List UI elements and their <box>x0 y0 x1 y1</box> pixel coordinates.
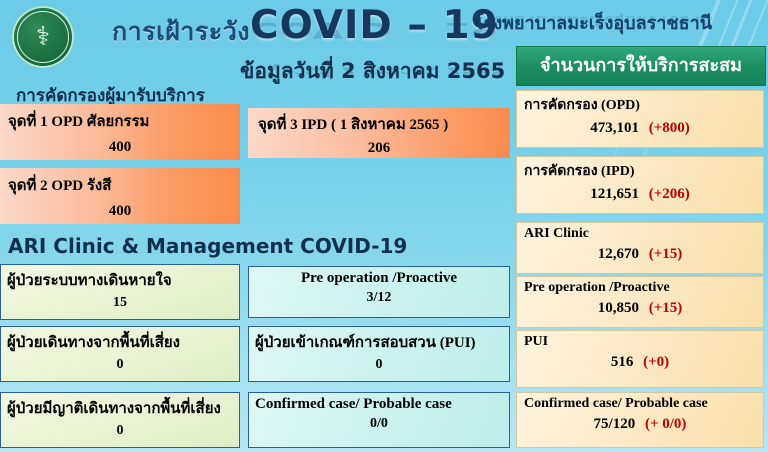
cumulative-delta: (+15) <box>649 246 683 262</box>
ari-middle-label: ผู้ป่วยเข้าเกณฑ์การสอบสวน (PUI) <box>249 327 509 354</box>
cumulative-delta: (+ 0/0) <box>645 416 686 432</box>
cumulative-heading-banner: จำนวนการให้บริการสะสม <box>516 46 766 86</box>
cumulative-label: ARI Clinic <box>517 223 763 242</box>
cumulative-value: 473,101 <box>590 120 639 136</box>
ari-middle-card: Pre operation /Proactive 3/12 <box>248 266 510 318</box>
screening-point-label: จุดที่ 2 OPD รังสี <box>0 168 240 197</box>
ari-middle-card: Confirmed case/ Probable case 0/0 <box>248 392 510 448</box>
cumulative-label: PUI <box>517 331 763 350</box>
cumulative-value-row: 12,670 (+15) <box>517 246 763 263</box>
screening-point-card: จุดที่ 3 IPD ( 1 สิงหาคม 2565 ) 206 <box>248 108 510 158</box>
cumulative-value-row: 516 (+0) <box>517 354 763 371</box>
ministry-of-public-health-logo-icon: ⚕ <box>12 6 74 68</box>
infographic-dashboard: ⚕ การเฝ้าระวัง COVID – 19 COVID – 19 โรง… <box>0 0 768 452</box>
ari-left-value: 0 <box>1 357 239 373</box>
cumulative-value: 10,850 <box>598 300 639 316</box>
ari-left-label: ผู้ป่วยมีญาติเดินทางจากพื้นที่เสี่ยง <box>1 393 239 420</box>
data-date-reflection: ข้อมูลวันที่ 2 สิงหาคม 2565 <box>240 62 505 80</box>
cumulative-row: ARI Clinic 12,670 (+15) <box>516 222 764 274</box>
cumulative-row: การคัดกรอง (IPD) 121,651 (+206) <box>516 156 764 214</box>
cumulative-delta: (+206) <box>649 186 690 202</box>
ari-left-card: ผู้ป่วยมีญาติเดินทางจากพื้นที่เสี่ยง 0 <box>0 392 240 448</box>
cumulative-value-row: 10,850 (+15) <box>517 300 763 317</box>
cumulative-value: 75/120 <box>594 416 636 432</box>
cumulative-row: Confirmed case/ Probable case 75/120 (+ … <box>516 392 764 448</box>
screening-point-label: จุดที่ 3 IPD ( 1 สิงหาคม 2565 ) <box>248 108 510 136</box>
screening-point-card: จุดที่ 1 OPD ศัลยกรรม 400 <box>0 104 240 160</box>
ari-left-value: 0 <box>1 423 239 439</box>
page-title-covid-reflection: COVID – 19 <box>250 17 499 42</box>
caduceus-icon: ⚕ <box>12 24 74 50</box>
cumulative-value: 121,651 <box>590 186 639 202</box>
cumulative-heading-text: จำนวนการให้บริการสะสม <box>517 47 765 85</box>
hospital-name-reflection: โรงพยาบาลมะเร็งอุบลราชธานี <box>474 12 712 29</box>
cumulative-value-row: 121,651 (+206) <box>517 186 763 203</box>
screening-point-value: 400 <box>0 203 240 220</box>
cumulative-value-row: 75/120 (+ 0/0) <box>517 416 763 433</box>
screening-point-card: จุดที่ 2 OPD รังสี 400 <box>0 168 240 224</box>
cumulative-value: 12,670 <box>598 246 639 262</box>
screening-point-value: 206 <box>248 140 510 157</box>
ari-left-label: ผู้ป่วยเดินทางจากพื้นที่เสี่ยง <box>1 327 239 354</box>
ari-middle-label: Confirmed case/ Probable case <box>249 393 509 413</box>
cumulative-row: Pre operation /Proactive 10,850 (+15) <box>516 276 764 328</box>
cumulative-row: PUI 516 (+0) <box>516 330 764 388</box>
cumulative-label: การคัดกรอง (OPD) <box>517 91 763 116</box>
ari-middle-value: 0/0 <box>249 416 509 432</box>
screening-point-label: จุดที่ 1 OPD ศัลยกรรม <box>0 104 240 133</box>
ari-left-card: ผู้ป่วยระบบทางเดินหายใจ 15 <box>0 264 240 320</box>
ari-left-card: ผู้ป่วยเดินทางจากพื้นที่เสี่ยง 0 <box>0 326 240 382</box>
cumulative-value: 516 <box>611 354 634 370</box>
page-title-thai: การเฝ้าระวัง <box>112 12 250 52</box>
ari-heading: ARI Clinic & Management COVID-19 <box>8 234 407 258</box>
cumulative-label: การคัดกรอง (IPD) <box>517 157 763 182</box>
cumulative-label: Pre operation /Proactive <box>517 277 763 296</box>
cumulative-value-row: 473,101 (+800) <box>517 120 763 137</box>
cumulative-delta: (+15) <box>649 300 683 316</box>
cumulative-delta: (+0) <box>643 354 669 370</box>
cumulative-row: การคัดกรอง (OPD) 473,101 (+800) <box>516 90 764 148</box>
decorative-streak <box>746 0 768 50</box>
ari-left-label: ผู้ป่วยระบบทางเดินหายใจ <box>1 265 239 292</box>
ari-left-value: 15 <box>1 295 239 311</box>
ari-middle-value: 0 <box>249 357 509 373</box>
ari-middle-label: Pre operation /Proactive <box>249 267 509 287</box>
ari-middle-value: 3/12 <box>249 290 509 306</box>
screening-point-value: 400 <box>0 139 240 156</box>
cumulative-label: Confirmed case/ Probable case <box>517 393 763 412</box>
ari-middle-card: ผู้ป่วยเข้าเกณฑ์การสอบสวน (PUI) 0 <box>248 326 510 382</box>
cumulative-delta: (+800) <box>649 120 690 136</box>
